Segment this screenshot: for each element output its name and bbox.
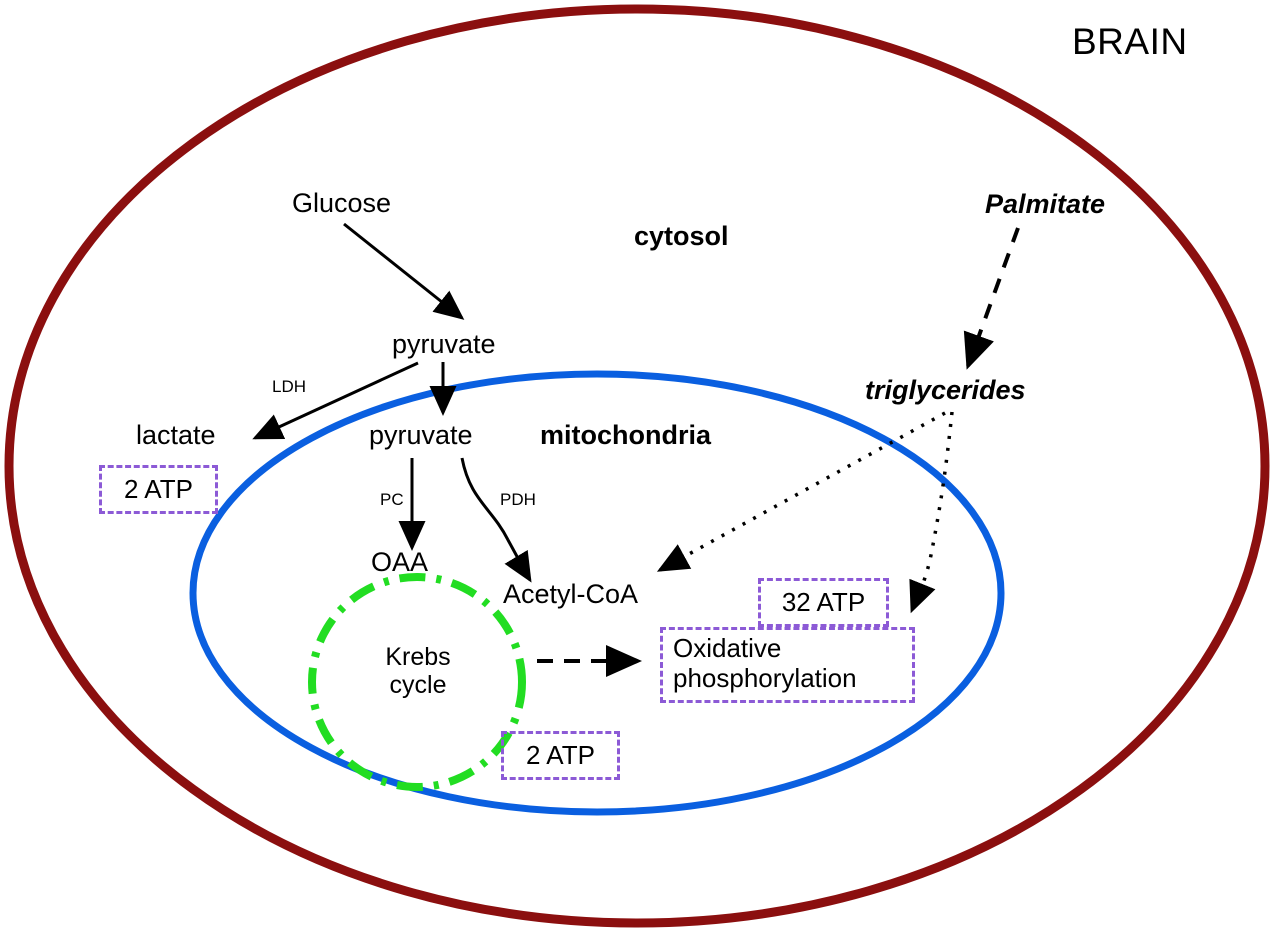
triglycerides-label: triglycerides [865, 376, 1026, 405]
atp-box-krebs[interactable]: 2 ATP [501, 731, 620, 780]
mitochondria-label: mitochondria [540, 421, 711, 450]
acetyl-coa-label: Acetyl-CoA [503, 580, 638, 609]
krebs-cycle-label: Krebs cycle [369, 643, 467, 699]
arrow-glucose-to-pyruvate [344, 224, 462, 318]
atp-box-glycolysis[interactable]: 2 ATP [99, 465, 218, 514]
brain-title-label: BRAIN [1072, 22, 1188, 62]
diagram-canvas: BRAIN cytosol mitochondria Glucose pyruv… [0, 0, 1280, 933]
ldh-enzyme-label: LDH [272, 378, 306, 396]
krebs-cycle-label-line1: Krebs [369, 643, 467, 671]
arrow-palmitate-to-triglycerides [968, 228, 1018, 366]
pyruvate-cytosol-label: pyruvate [392, 330, 496, 359]
arrow-triglycerides-to-oxphos [912, 412, 952, 610]
pdh-enzyme-label: PDH [500, 491, 536, 509]
atp-box-krebs-label: 2 ATP [526, 740, 595, 771]
palmitate-label: Palmitate [985, 190, 1105, 219]
glucose-label: Glucose [292, 189, 391, 218]
atp-box-glycolysis-label: 2 ATP [124, 474, 193, 505]
oxphos-label-line2: phosphorylation [673, 664, 902, 694]
pyruvate-mitochondria-label: pyruvate [369, 421, 473, 450]
krebs-cycle-label-line2: cycle [369, 671, 467, 699]
oxphos-label-line1: Oxidative [673, 634, 902, 664]
arrow-pyruvate-to-acetylcoa [462, 458, 530, 580]
atp-box-oxphos-label: 32 ATP [782, 587, 865, 618]
oaa-label: OAA [371, 548, 428, 577]
atp-box-oxphos[interactable]: 32 ATP [758, 578, 889, 627]
cytosol-label: cytosol [634, 222, 729, 251]
oxidative-phosphorylation-box[interactable]: Oxidative phosphorylation [660, 627, 915, 703]
lactate-label: lactate [136, 421, 216, 450]
pc-enzyme-label: PC [380, 491, 404, 509]
